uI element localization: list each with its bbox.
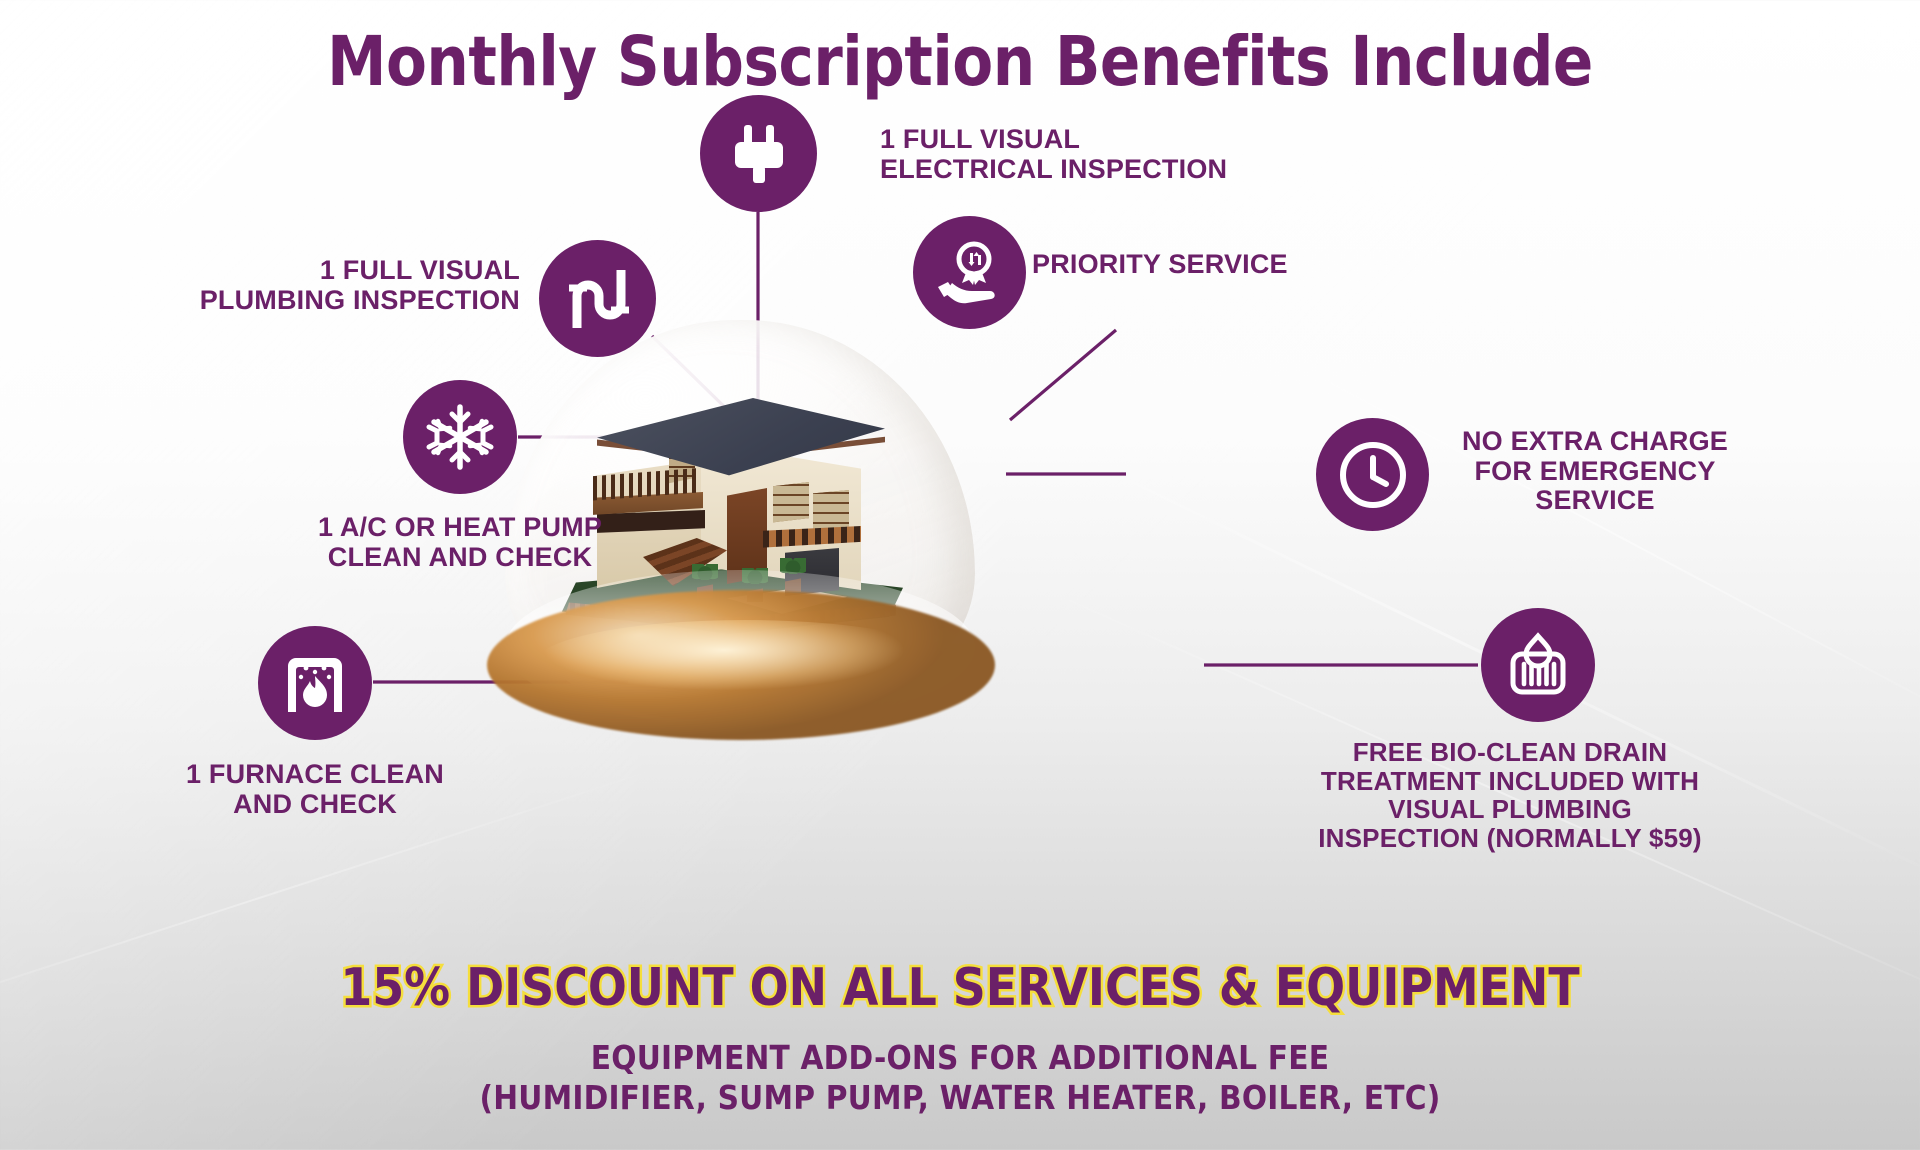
snowflake-icon [426, 403, 494, 471]
house-window [773, 482, 809, 524]
benefit-badge-drain[interactable] [1481, 608, 1595, 722]
benefit-label-ac: 1 A/C OR HEAT PUMP CLEAN AND CHECK [230, 513, 690, 572]
benefit-badge-plumbing[interactable] [539, 240, 656, 357]
benefit-label-drain: FREE BIO-CLEAN DRAIN TREATMENT INCLUDED … [1255, 738, 1765, 852]
hand-award-icon [934, 237, 1006, 309]
fireplace-flame-icon [282, 652, 348, 714]
power-plug-icon [730, 123, 788, 185]
dome-base-highlight [535, 620, 955, 706]
benefit-badge-priority[interactable] [913, 216, 1026, 329]
benefit-badge-electrical[interactable] [700, 95, 817, 212]
benefit-label-plumbing: 1 FULL VISUAL PLUMBING INSPECTION [120, 256, 520, 315]
benefit-label-furnace: 1 FURNACE CLEAN AND CHECK [85, 760, 545, 819]
clock-icon [1336, 438, 1410, 512]
discount-headline: 15% DISCOUNT ON ALL SERVICES & EQUIPMENT [19, 958, 1901, 1018]
infographic-canvas: Monthly Subscription Benefits Include [0, 0, 1920, 1150]
house-window [813, 490, 849, 532]
pipe-icon [567, 266, 629, 332]
benefit-label-electrical: 1 FULL VISUAL ELECTRICAL INSPECTION [880, 125, 1300, 184]
addons-note: EQUIPMENT ADD-ONS FOR ADDITIONAL FEE (HU… [0, 1038, 1920, 1119]
benefit-label-emergency: NO EXTRA CHARGE FOR EMERGENCY SERVICE [1425, 427, 1765, 516]
benefit-badge-ac[interactable] [403, 380, 517, 494]
benefit-label-priority: PRIORITY SERVICE [1032, 250, 1432, 280]
benefit-badge-emergency[interactable] [1316, 418, 1429, 531]
benefit-badge-furnace[interactable] [258, 626, 372, 740]
drain-grate-droplet-icon [1505, 632, 1571, 698]
